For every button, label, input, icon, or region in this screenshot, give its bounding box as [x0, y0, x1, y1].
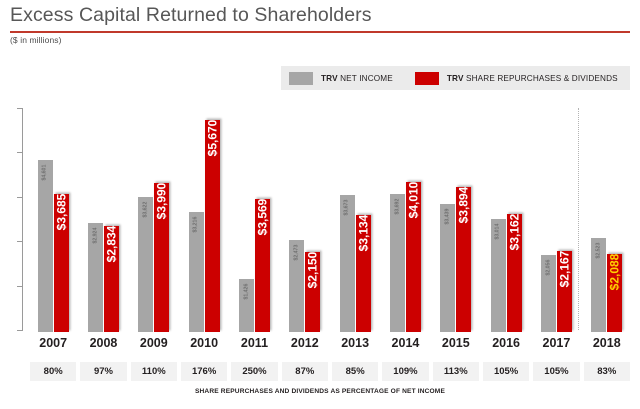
y-axis-tick [17, 152, 23, 153]
bar-value-label-net-income: $2,473 [294, 245, 299, 261]
percentage-cell: 80% [30, 362, 76, 381]
y-axis-tick [17, 108, 23, 109]
title-underline-rule [10, 31, 630, 33]
x-axis-year-label: 2011 [229, 332, 279, 354]
legend-item-net-income[interactable]: TRV NET INCOME [289, 66, 393, 90]
bar-net-income[interactable]: $3,673 [340, 195, 355, 332]
bar-value-label-share-repurchases: $3,894 [458, 187, 470, 224]
bar-value-label-net-income: $3,692 [395, 199, 400, 215]
bar-net-income[interactable]: $4,601 [38, 160, 53, 332]
bar-group: $2,473$2,150 [280, 100, 330, 332]
bar-share-repurchases[interactable]: $2,167 [557, 251, 572, 332]
bar-share-repurchases[interactable]: $5,670 [205, 120, 220, 332]
bar-share-repurchases[interactable]: $3,134 [356, 215, 371, 332]
bar-group: $2,523$2,088 [582, 100, 632, 332]
bar-net-income[interactable]: $3,014 [491, 219, 506, 332]
x-axis-year-label: 2012 [280, 332, 330, 354]
percentage-cell: 250% [231, 362, 277, 381]
x-axis-year-label: 2010 [179, 332, 229, 354]
x-axis-year-labels: 2007200820092010201120122013201420152016… [28, 332, 632, 354]
bar-net-income[interactable]: $2,473 [289, 240, 304, 332]
x-axis-year-label: 2014 [380, 332, 430, 354]
legend-label-share-repurchases-bold: TRV [447, 74, 464, 83]
bar-value-label-share-repurchases: $3,990 [156, 183, 168, 220]
bar-group: $3,622$3,990 [129, 100, 179, 332]
y-axis-tick [17, 286, 23, 287]
bar-value-label-net-income: $3,014 [496, 224, 501, 240]
x-axis-year-label: 2008 [78, 332, 128, 354]
bar-group: $4,601$3,685 [28, 100, 78, 332]
percentage-cell: 87% [282, 362, 328, 381]
bar-value-label-share-repurchases: $3,162 [508, 214, 520, 251]
bar-share-repurchases[interactable]: $2,150 [305, 252, 320, 332]
bar-value-label-share-repurchases: $2,167 [558, 251, 570, 288]
bar-net-income[interactable]: $2,924 [88, 223, 103, 332]
bar-share-repurchases[interactable]: $2,834 [104, 226, 119, 332]
bar-value-label-net-income: $3,673 [345, 200, 350, 216]
bar-group: $3,216$5,670 [179, 100, 229, 332]
percentage-cell: 97% [80, 362, 126, 381]
bar-value-label-net-income: $2,523 [596, 243, 601, 259]
bar-share-repurchases[interactable]: $3,685 [54, 194, 69, 332]
bar-share-repurchases[interactable]: $2,088 [607, 254, 622, 332]
bar-value-label-share-repurchases: $4,010 [407, 182, 419, 219]
chart-footnote: SHARE REPURCHASES AND DIVIDENDS AS PERCE… [0, 388, 640, 395]
percentage-cell: 105% [533, 362, 579, 381]
x-axis-year-label: 2007 [28, 332, 78, 354]
y-axis-spine [22, 108, 23, 330]
legend-label-net-income-rest: NET INCOME [338, 74, 393, 83]
page-title: Excess Capital Returned to Shareholders [10, 4, 372, 27]
bar-value-label-net-income: $3,622 [143, 202, 148, 218]
bar-group: $1,426$3,569 [229, 100, 279, 332]
x-axis-year-label: 2015 [431, 332, 481, 354]
bar-value-label-net-income: $2,924 [93, 228, 98, 244]
bar-share-repurchases[interactable]: $3,990 [154, 183, 169, 332]
x-axis-year-label: 2018 [582, 332, 632, 354]
percentage-cell: 176% [181, 362, 227, 381]
percentage-cell: 85% [332, 362, 378, 381]
percentage-cell: 113% [433, 362, 479, 381]
bar-share-repurchases[interactable]: $3,894 [456, 187, 471, 332]
percentage-cell: 105% [483, 362, 529, 381]
bar-value-label-share-repurchases: $3,134 [357, 215, 369, 252]
bar-group: $3,014$3,162 [481, 100, 531, 332]
legend-swatch-icon-share-repurchases [415, 72, 439, 85]
legend-swatch-icon-net-income [289, 72, 313, 85]
x-axis-year-label: 2013 [330, 332, 380, 354]
bar-value-label-share-repurchases: $2,150 [307, 252, 319, 289]
bar-net-income[interactable]: $3,216 [189, 212, 204, 332]
bar-net-income[interactable]: $1,426 [239, 279, 254, 332]
chart-plot-area: $4,601$3,685$2,924$2,834$3,622$3,990$3,2… [0, 100, 640, 332]
y-axis-tick [17, 330, 23, 331]
bar-group: $2,056$2,167 [531, 100, 581, 332]
percentage-cell: 83% [584, 362, 630, 381]
bar-share-repurchases[interactable]: $3,162 [507, 214, 522, 332]
legend-label-share-repurchases-rest: SHARE REPURCHASES & DIVIDENDS [464, 74, 618, 83]
bar-group: $3,439$3,894 [431, 100, 481, 332]
y-axis-tick [17, 197, 23, 198]
bar-net-income[interactable]: $2,056 [541, 255, 556, 332]
percentage-of-net-income-row: 80%97%110%176%250%87%85%109%113%105%105%… [28, 362, 632, 381]
bar-value-label-share-repurchases: $3,569 [256, 199, 268, 236]
bar-value-label-net-income: $3,439 [445, 209, 450, 225]
bar-group: $3,673$3,134 [330, 100, 380, 332]
chart-header: Excess Capital Returned to Shareholders … [0, 0, 640, 50]
x-axis-year-label: 2009 [129, 332, 179, 354]
legend-item-share-repurchases[interactable]: TRV SHARE REPURCHASES & DIVIDENDS [415, 66, 618, 90]
bar-net-income[interactable]: $3,692 [390, 194, 405, 332]
bar-value-label-share-repurchases: $3,685 [55, 194, 67, 231]
percentage-cell: 109% [382, 362, 428, 381]
x-axis-year-label: 2017 [531, 332, 581, 354]
bar-group: $3,692$4,010 [380, 100, 430, 332]
bar-value-label-net-income: $1,426 [244, 284, 249, 300]
bar-group: $2,924$2,834 [78, 100, 128, 332]
y-axis-tick [17, 241, 23, 242]
bar-value-label-net-income: $2,056 [546, 260, 551, 276]
x-axis-year-label: 2016 [481, 332, 531, 354]
bar-value-label-share-repurchases: $2,834 [105, 226, 117, 263]
bar-share-repurchases[interactable]: $3,569 [255, 199, 270, 332]
bar-net-income[interactable]: $3,439 [440, 204, 455, 332]
chart-legend: TRV NET INCOME TRV SHARE REPURCHASES & D… [281, 66, 630, 90]
legend-label-share-repurchases: TRV SHARE REPURCHASES & DIVIDENDS [447, 74, 618, 83]
chart-units-subtitle: ($ in millions) [10, 35, 62, 45]
bar-value-label-net-income: $4,601 [43, 165, 48, 181]
bar-net-income[interactable]: $3,622 [138, 197, 153, 332]
bar-share-repurchases[interactable]: $4,010 [406, 182, 421, 332]
bar-value-label-share-repurchases: $2,088 [609, 254, 621, 291]
legend-label-net-income: TRV NET INCOME [321, 74, 393, 83]
bar-value-label-share-repurchases: $5,670 [206, 120, 218, 157]
percentage-cell: 110% [131, 362, 177, 381]
bar-net-income[interactable]: $2,523 [591, 238, 606, 332]
bar-groups: $4,601$3,685$2,924$2,834$3,622$3,990$3,2… [28, 100, 632, 332]
legend-label-net-income-bold: TRV [321, 74, 338, 83]
bar-value-label-net-income: $3,216 [194, 217, 199, 233]
